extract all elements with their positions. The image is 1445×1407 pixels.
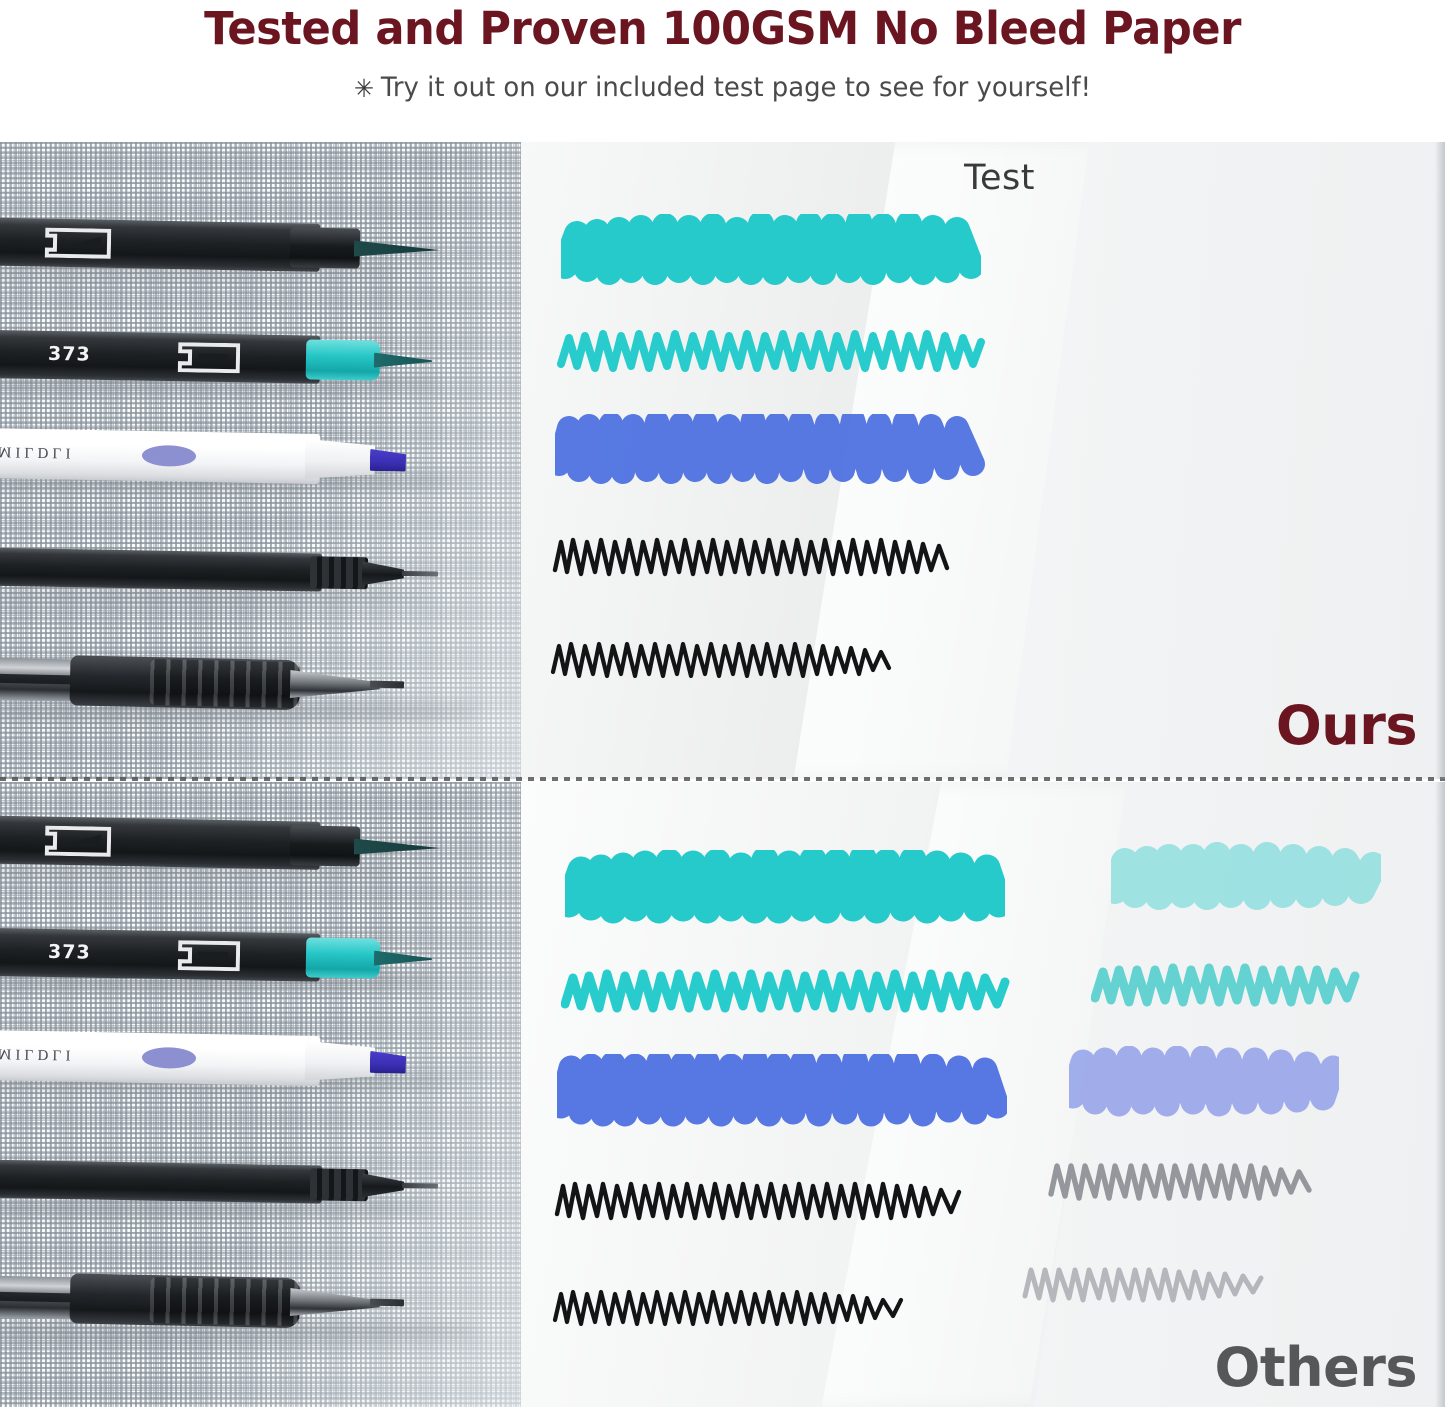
gel-pen-grip-ridges [150,1277,301,1326]
fineliner-grip-rings [310,556,369,589]
comparison-panel-ours: Test [0,142,1445,779]
test-sheet-ours: Test [521,142,1445,779]
comparison-panel-others: 373 MILDLI [0,782,1445,1407]
gel-pen-grip-ridges [150,659,301,708]
brush-tip-marking [45,228,112,259]
blue-broad-bleed [1069,1046,1339,1126]
teal-fine-stroke [561,964,1011,1022]
marker-color-number: 373 [48,941,91,964]
black-gel-stroke [549,634,939,688]
header: Tested and Proven 100GSM No Bleed Paper … [0,0,1445,140]
test-sheet-others [521,782,1445,1407]
brush-pen-ferrule [290,227,361,268]
blue-broad-stroke [557,1054,1007,1138]
brush-pen-ferrule [290,825,361,866]
page-title: Tested and Proven 100GSM No Bleed Paper [29,2,1416,55]
mildliner-brand-text: MILDLI [0,442,75,460]
fineliner-grip-rings [310,1168,369,1201]
fineliner-cone [362,561,404,586]
fineliner-needle-tip [402,571,438,577]
bullet-tip-marking [178,940,241,971]
page-subtitle: ✳Try it out on our included test page to… [29,72,1416,103]
black-gel-bleed [1021,1258,1291,1314]
teal-fine-stroke [557,324,987,382]
gel-pen-metal-cone [290,1288,381,1318]
marker-bullet-tip [374,951,432,967]
marker-color-number: 373 [48,343,91,366]
grid-paper-edge [1435,782,1445,1407]
grid-paper-edge [1435,142,1445,779]
marker-teal-collar [306,937,381,978]
highlighter-cone [305,1041,376,1082]
teal-broad-stroke [565,850,1005,932]
fineliner-cone [362,1173,404,1198]
test-label: Test [964,158,1035,198]
gel-pen-tip [370,681,404,689]
black-gel-stroke [551,1282,951,1336]
black-fine-stroke [551,530,961,586]
gel-pen-metal-cone [290,670,381,700]
brand-label-others: Others [1214,1336,1417,1399]
teal-fine-bleed [1091,958,1361,1016]
sparkle-icon: ✳ [354,74,374,103]
gel-pen-tip [370,1299,404,1307]
bullet-tip-marking [178,342,241,373]
brand-label-ours: Ours [1276,694,1417,757]
highlighter-chisel-tip [370,1051,406,1074]
page-subtitle-text: Try it out on our included test page to … [381,72,1091,103]
mildliner-brand-text: MILDLI [0,1044,75,1062]
black-fine-bleed [1047,1154,1317,1212]
panel-divider [0,777,1445,781]
product-comparison-image: Tested and Proven 100GSM No Bleed Paper … [0,0,1445,1407]
teal-broad-stroke [561,214,981,294]
marker-teal-collar [306,339,381,380]
teal-broad-bleed [1111,840,1381,918]
brush-tip-marking [45,826,112,857]
highlighter-chisel-tip [370,449,406,472]
black-fine-stroke [553,1174,973,1230]
fineliner-needle-tip [402,1183,438,1189]
marker-bullet-tip [374,353,432,369]
blue-broad-stroke [555,414,985,494]
highlighter-cone [305,439,376,480]
